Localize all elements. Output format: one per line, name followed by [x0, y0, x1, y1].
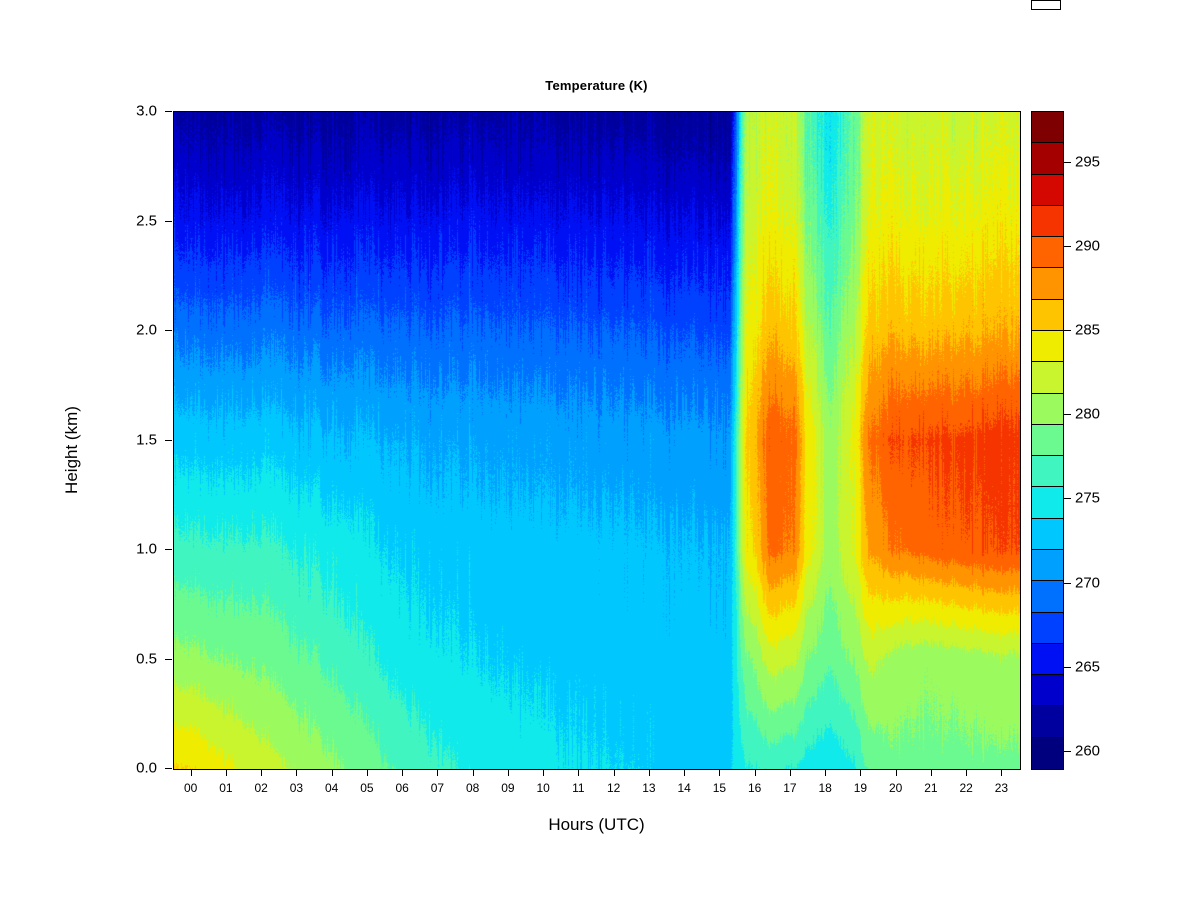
- y-tick-label: 0.5: [97, 650, 157, 667]
- colorbar-tick-label: 265: [1075, 658, 1100, 675]
- y-tick-mark: [165, 111, 172, 112]
- y-tick-mark: [165, 440, 172, 441]
- y-tick-label: 2.0: [97, 322, 157, 339]
- colorbar-tick-label: 270: [1075, 574, 1100, 591]
- colorbar-tick-label: 290: [1075, 237, 1100, 254]
- x-tick-mark: [1001, 769, 1002, 776]
- colorbar-swatch: [1032, 519, 1063, 550]
- colorbar-tick-label: 295: [1075, 153, 1100, 170]
- x-tick-mark: [614, 769, 615, 776]
- colorbar-swatch: [1032, 362, 1063, 393]
- colorbar-tick-mark: [1063, 330, 1071, 331]
- colorbar-swatch: [1032, 644, 1063, 675]
- colorbar-swatch: [1032, 675, 1063, 706]
- x-tick-label: 02: [241, 781, 281, 795]
- colorbar-swatch: [1032, 206, 1063, 237]
- plot-title: Temperature (K): [173, 78, 1020, 93]
- x-tick-label: 17: [770, 781, 810, 795]
- y-tick-mark: [165, 330, 172, 331]
- colorbar-swatch: [1032, 175, 1063, 206]
- y-tick-label: 1.5: [97, 431, 157, 448]
- x-tick-mark: [578, 769, 579, 776]
- x-tick-mark: [931, 769, 932, 776]
- colorbar-tick-label: 280: [1075, 406, 1100, 423]
- y-tick-label: 1.0: [97, 541, 157, 558]
- x-tick-label: 11: [558, 781, 598, 795]
- x-tick-mark: [473, 769, 474, 776]
- x-tick-mark: [684, 769, 685, 776]
- x-tick-mark: [402, 769, 403, 776]
- colorbar-tick-mark: [1063, 162, 1071, 163]
- x-tick-mark: [860, 769, 861, 776]
- colorbar-swatch: [1032, 268, 1063, 299]
- x-tick-label: 21: [911, 781, 951, 795]
- x-tick-mark: [966, 769, 967, 776]
- x-tick-mark: [543, 769, 544, 776]
- x-tick-mark: [896, 769, 897, 776]
- x-tick-mark: [261, 769, 262, 776]
- x-tick-mark: [367, 769, 368, 776]
- colorbar-swatch: [1032, 456, 1063, 487]
- x-tick-mark: [191, 769, 192, 776]
- x-axis-title: Hours (UTC): [173, 815, 1020, 835]
- y-tick-mark: [165, 768, 172, 769]
- x-tick-mark: [508, 769, 509, 776]
- colorbar-tick-mark: [1063, 246, 1071, 247]
- x-tick-label: 22: [946, 781, 986, 795]
- heatmap-canvas: [174, 112, 1020, 769]
- x-tick-label: 10: [523, 781, 563, 795]
- colorbar-swatch: [1032, 112, 1063, 143]
- x-tick-label: 09: [488, 781, 528, 795]
- y-tick-label: 2.5: [97, 212, 157, 229]
- x-tick-mark: [790, 769, 791, 776]
- temperature-heatmap-figure: Temperature (K) 0.00.51.01.52.02.53.0 00…: [0, 0, 1200, 900]
- colorbar-swatch: [1032, 331, 1063, 362]
- x-tick-mark: [825, 769, 826, 776]
- x-tick-label: 16: [735, 781, 775, 795]
- y-tick-label: 3.0: [97, 103, 157, 120]
- x-tick-label: 04: [312, 781, 352, 795]
- y-axis-title: Height (km): [62, 330, 82, 570]
- colorbar-tick-mark: [1063, 583, 1071, 584]
- colorbar-swatch: [1032, 300, 1063, 331]
- x-tick-label: 14: [664, 781, 704, 795]
- colorbar-swatch: [1032, 237, 1063, 268]
- y-tick-mark: [165, 659, 172, 660]
- x-tick-mark: [719, 769, 720, 776]
- colorbar-tick-label: 260: [1075, 743, 1100, 760]
- x-tick-mark: [332, 769, 333, 776]
- colorbar-tick-label: 285: [1075, 322, 1100, 339]
- colorbar-swatch: [1032, 425, 1063, 456]
- x-tick-mark: [226, 769, 227, 776]
- x-tick-label: 03: [276, 781, 316, 795]
- x-tick-mark: [649, 769, 650, 776]
- x-tick-label: 15: [699, 781, 739, 795]
- x-tick-mark: [296, 769, 297, 776]
- colorbar-swatch: [1032, 706, 1063, 737]
- x-tick-label: 20: [876, 781, 916, 795]
- colorbar-swatch: [1032, 738, 1063, 769]
- x-tick-label: 13: [629, 781, 669, 795]
- colorbar-swatch: [1032, 143, 1063, 174]
- colorbar-tick-mark: [1063, 667, 1071, 668]
- x-tick-label: 08: [453, 781, 493, 795]
- x-tick-label: 19: [840, 781, 880, 795]
- y-tick-mark: [165, 549, 172, 550]
- colorbar-tick-mark: [1063, 751, 1071, 752]
- plot-area: [173, 111, 1021, 770]
- colorbar: [1031, 111, 1064, 770]
- x-tick-label: 18: [805, 781, 845, 795]
- x-tick-label: 12: [594, 781, 634, 795]
- corner-stub: [1031, 0, 1061, 10]
- colorbar-tick-mark: [1063, 498, 1071, 499]
- colorbar-swatch: [1032, 613, 1063, 644]
- x-tick-label: 06: [382, 781, 422, 795]
- colorbar-swatch: [1032, 550, 1063, 581]
- colorbar-tick-label: 275: [1075, 490, 1100, 507]
- x-tick-label: 07: [417, 781, 457, 795]
- colorbar-swatch: [1032, 394, 1063, 425]
- y-tick-mark: [165, 221, 172, 222]
- x-tick-label: 01: [206, 781, 246, 795]
- colorbar-tick-mark: [1063, 414, 1071, 415]
- x-tick-mark: [437, 769, 438, 776]
- colorbar-swatch: [1032, 487, 1063, 518]
- x-tick-label: 00: [171, 781, 211, 795]
- colorbar-swatch: [1032, 581, 1063, 612]
- y-tick-label: 0.0: [97, 760, 157, 777]
- x-tick-mark: [755, 769, 756, 776]
- x-tick-label: 23: [981, 781, 1021, 795]
- x-tick-label: 05: [347, 781, 387, 795]
